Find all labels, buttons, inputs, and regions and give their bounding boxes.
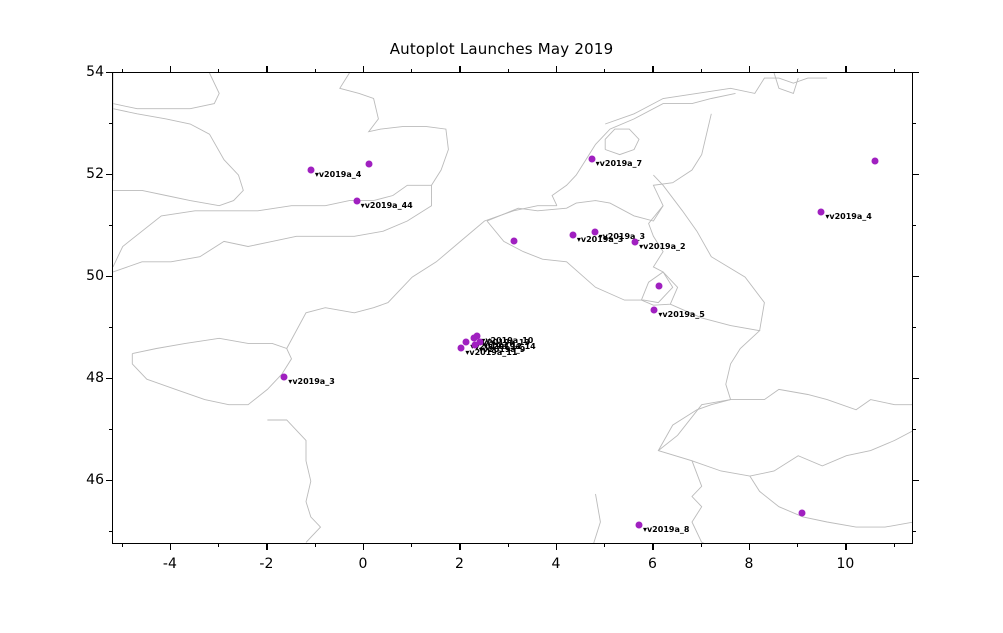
data-point[interactable] [651,306,658,313]
y-minor-tick [109,429,112,430]
x-tick [845,544,846,550]
data-point[interactable] [591,229,598,236]
coastline-wadden [605,78,827,124]
y-tick [106,72,112,73]
x-tick [266,66,267,72]
y-tick [913,378,919,379]
y-tick [913,174,919,175]
x-minor-tick [894,69,895,72]
x-minor-tick [701,544,702,547]
coastline-liguria [702,542,913,544]
data-point[interactable] [463,339,470,346]
y-minor-tick [109,123,112,124]
x-minor-tick [315,69,316,72]
y-tick [913,480,919,481]
x-tick [652,544,653,550]
x-tick [170,66,171,72]
x-tick [749,66,750,72]
x-tick [266,544,267,550]
x-minor-tick [122,69,123,72]
x-tick [556,66,557,72]
x-tick [459,544,460,550]
data-point[interactable] [818,208,825,215]
x-tick [845,66,846,72]
y-tick-label: 46 [74,472,104,488]
data-point[interactable] [799,509,806,516]
x-tick [749,544,750,550]
map-axes: ▾v2019a_4▾v2019a_44▾v2019a_7▾v2019a_4▾v2… [112,72,913,544]
plain-po [750,476,913,527]
y-tick-label: 52 [74,166,104,182]
coastline-wales [113,109,243,206]
data-point-label: ▾v2019a_5 [658,311,704,319]
x-minor-tick [894,544,895,547]
x-minor-tick [508,69,509,72]
data-point[interactable] [588,155,595,162]
x-tick [363,66,364,72]
coastline-south-england [113,185,432,272]
y-minor-tick [109,327,112,328]
y-tick [913,72,919,73]
coastline-netherlands [552,93,735,205]
chart-title: Autoplot Launches May 2019 [0,40,1003,58]
data-point[interactable] [307,166,314,173]
y-tick-label: 50 [74,268,104,284]
x-tick [170,544,171,550]
y-tick [913,276,919,277]
data-point[interactable] [872,158,879,165]
data-point-label: ▾v2019a_2 [639,243,685,251]
y-minor-tick [913,429,916,430]
lake-ijsselmeer [605,129,639,155]
coastline-biscay [267,420,320,542]
data-point[interactable] [281,373,288,380]
y-minor-tick [913,327,916,328]
x-minor-tick [797,544,798,547]
x-minor-tick [797,69,798,72]
data-point[interactable] [365,160,372,167]
y-minor-tick [913,225,916,226]
coastline-north-france [287,206,557,349]
figure: Autoplot Launches May 2019 ▾v2019a_4▾v20… [0,0,1003,633]
y-minor-tick [109,225,112,226]
coastline-east-england [340,73,449,185]
x-minor-tick [604,544,605,547]
x-minor-tick [315,544,316,547]
data-point-label: ▾v2019a_44 [361,202,413,210]
x-minor-tick [411,69,412,72]
data-point-label: ▾v2019a_3 [288,378,334,386]
y-minor-tick [109,531,112,532]
x-minor-tick [508,544,509,547]
data-point[interactable] [353,197,360,204]
coastline-nw-england [113,73,219,109]
x-minor-tick [122,544,123,547]
x-tick-label: 4 [551,556,560,572]
y-tick [106,378,112,379]
x-tick-label: 6 [648,556,657,572]
basemap-coastlines [113,73,913,544]
data-point[interactable] [656,283,663,290]
x-minor-tick [701,69,702,72]
y-tick-label: 48 [74,370,104,386]
data-point-label: ▾v2019a_7 [596,160,642,168]
x-tick-label: -2 [259,556,273,572]
x-tick-label: 2 [455,556,464,572]
y-tick [106,480,112,481]
x-tick [459,66,460,72]
data-point-label: ▾v2019a_8 [643,526,689,534]
river-rhine [653,175,764,331]
x-tick-label: 10 [837,556,855,572]
data-point[interactable] [635,521,642,528]
y-tick-label: 54 [74,64,104,80]
data-point[interactable] [632,239,639,246]
coastline-brittany [132,338,291,404]
data-point[interactable] [510,238,517,245]
border-switzerland-north [658,389,913,450]
x-minor-tick [218,544,219,547]
data-point[interactable] [569,232,576,239]
x-tick-label: -4 [163,556,177,572]
border-switzerland-south [692,430,913,476]
x-tick [363,544,364,550]
x-tick-label: 8 [744,556,753,572]
y-tick [106,174,112,175]
x-tick-label: 0 [358,556,367,572]
x-tick [652,66,653,72]
y-minor-tick [913,123,916,124]
x-minor-tick [604,69,605,72]
data-point[interactable] [471,342,478,349]
x-minor-tick [411,544,412,547]
border-belgium [487,206,673,303]
x-minor-tick [218,69,219,72]
data-point-label: ▾v2019a_9 [479,346,525,354]
y-tick [106,276,112,277]
data-point-label: ▾v2019a_4 [825,213,871,221]
x-tick [556,544,557,550]
border-east-france [658,304,759,542]
river-rhone [591,494,601,544]
y-minor-tick [913,531,916,532]
data-point-label: ▾v2019a_4 [315,171,361,179]
